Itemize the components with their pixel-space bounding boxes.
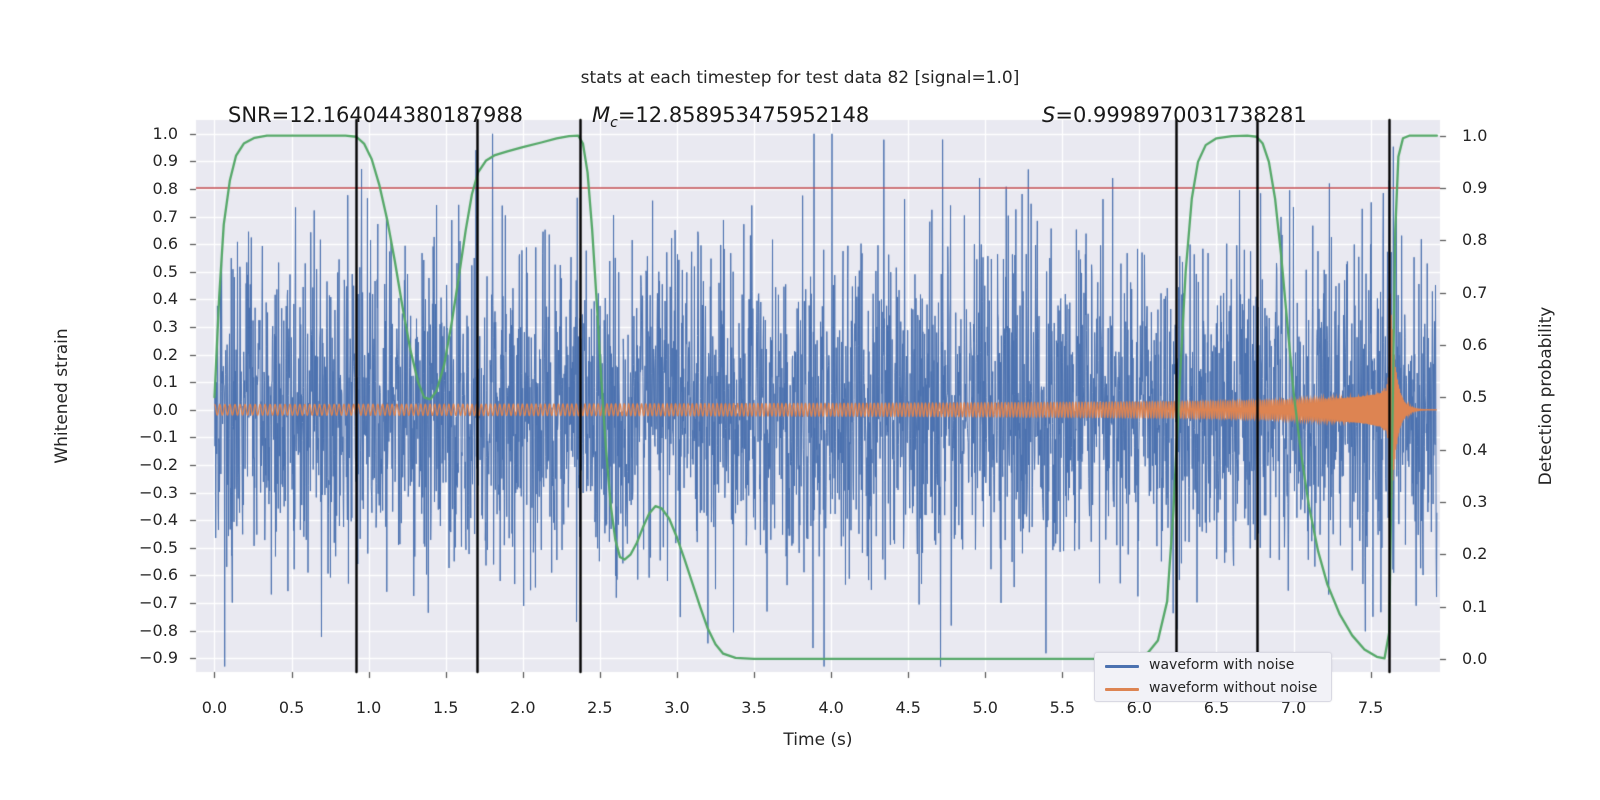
plot-canvas [0,0,1600,800]
figure-canvas-root: stats at each timestep for test data 82 … [0,0,1600,800]
